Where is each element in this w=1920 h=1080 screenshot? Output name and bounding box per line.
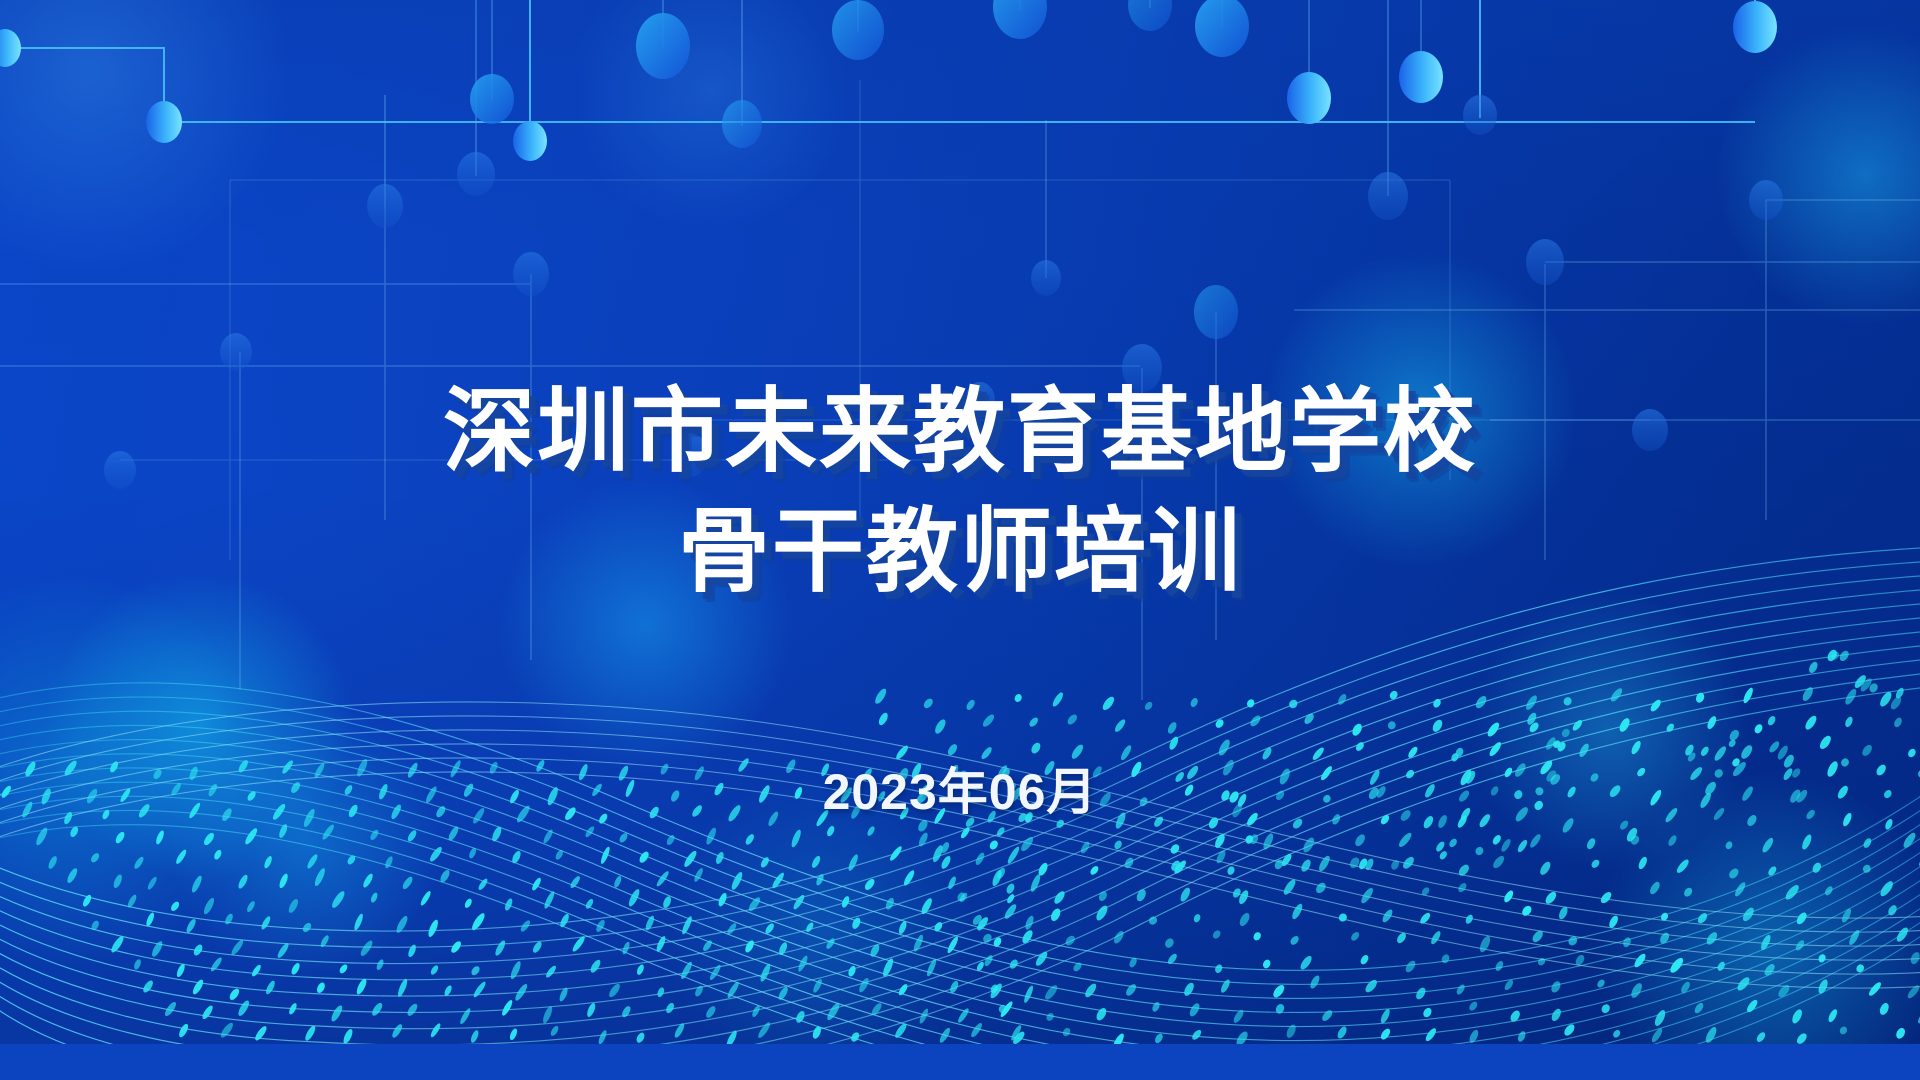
bottom-accent-bar [0,1044,1920,1080]
title-line-1: 深圳市未来教育基地学校 [0,372,1920,492]
slide-content: 深圳市未来教育基地学校 骨干教师培训 2023年06月 [0,0,1920,1080]
slide-date: 2023年06月 [0,752,1920,824]
title-block: 深圳市未来教育基地学校 骨干教师培训 [0,372,1920,612]
title-slide: 深圳市未来教育基地学校 骨干教师培训 2023年06月 [0,0,1920,1080]
title-line-2: 骨干教师培训 [0,492,1920,612]
